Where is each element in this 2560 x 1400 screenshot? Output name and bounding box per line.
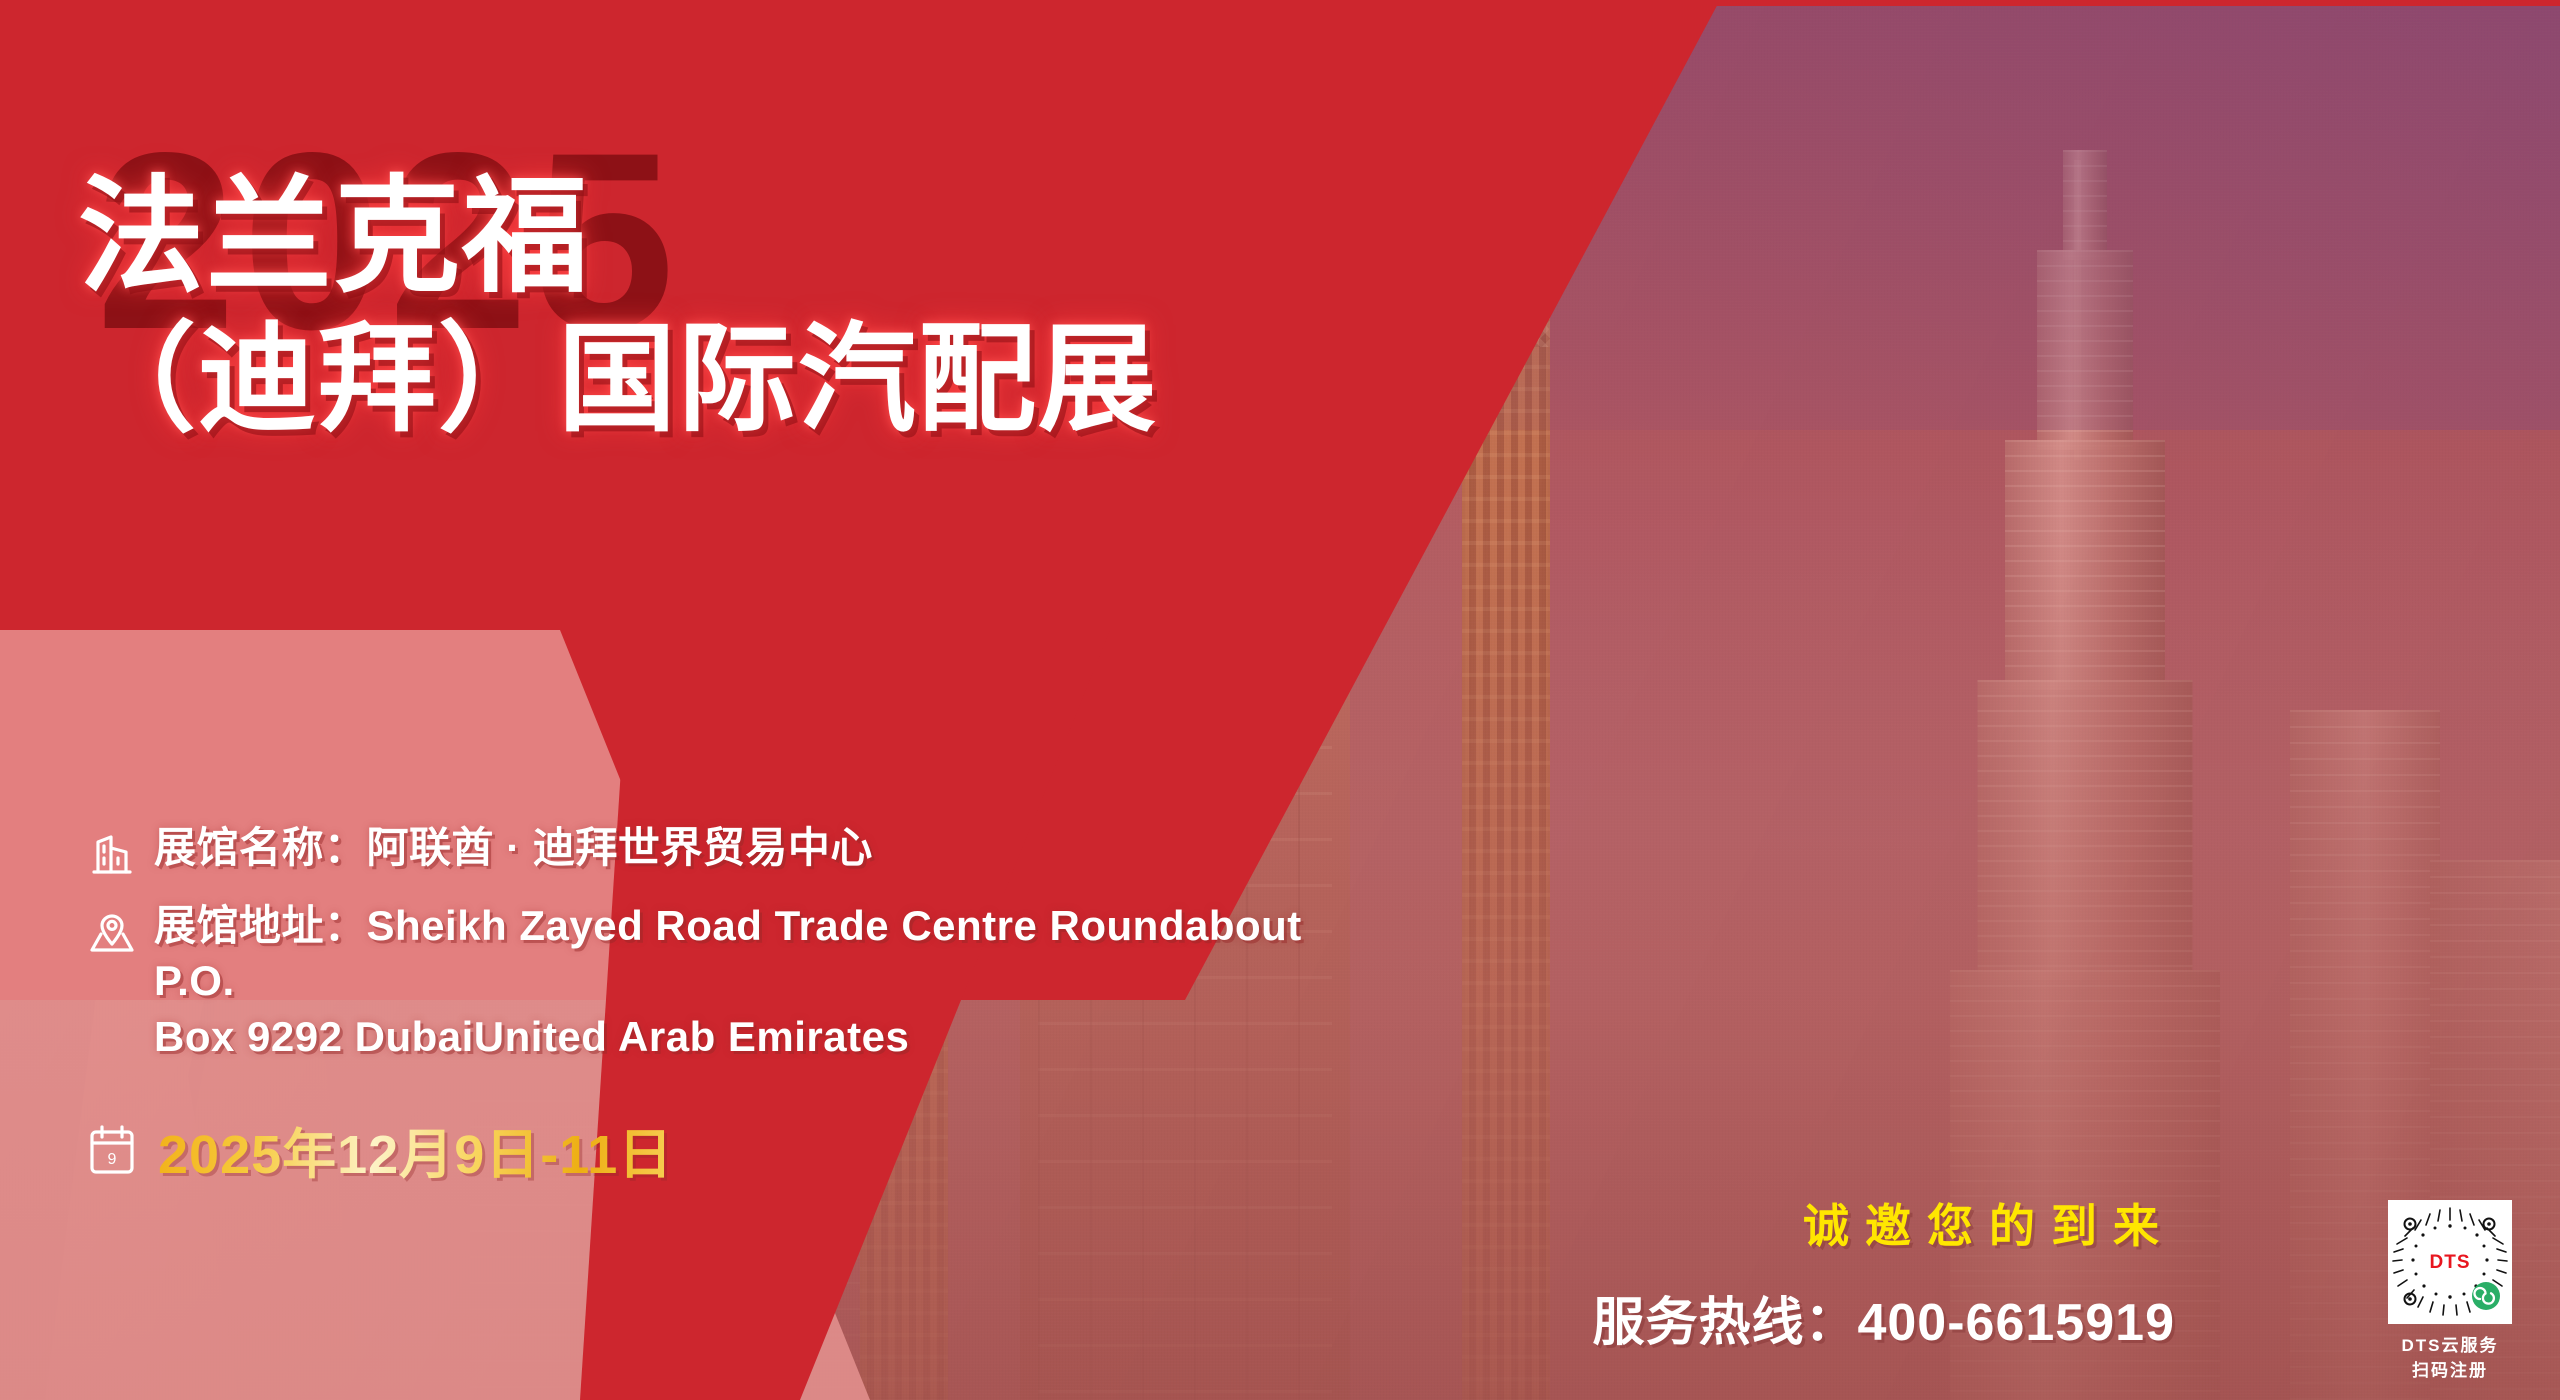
qr-caption-line-1: DTS云服务 [2370,1334,2530,1359]
event-date-row: 9 2025年12月9日-11日 [84,1110,673,1189]
svg-text:9: 9 [108,1151,117,1168]
venue-name-text: 展馆名称：阿联酋 · 迪拜世界贸易中心 [154,820,873,875]
venue-address-line-2: Box 9292 DubaiUnited Arab Emirates [154,1013,909,1060]
svg-text:DTS: DTS [2430,1252,2471,1273]
event-date-text: 2025年12月9日-11日 [158,1110,673,1189]
calendar-icon: 9 [84,1119,140,1181]
venue-name-row: 展馆名称：阿联酋 · 迪拜世界贸易中心 [84,820,1884,882]
event-title-line-1: 法兰克福 [78,170,1158,304]
event-info-list: 展馆名称：阿联酋 · 迪拜世界贸易中心 展馆地址：Sheikh Zayed Ro… [84,820,1884,1080]
venue-address-text: 展馆地址：Sheikh Zayed Road Trade Centre Roun… [154,898,1334,1064]
event-title: 法兰克福 （迪拜）国际汽配展 [78,170,1158,443]
museum-building-icon [84,826,140,882]
banner-content: 2025 法兰克福 （迪拜）国际汽配展 展馆名称：阿联酋 · 迪拜世界贸易 [0,0,2560,1400]
qr-caption-line-2: 扫码注册 [2370,1359,2530,1384]
map-pin-icon [84,904,140,960]
qr-registration-block: DTS DTS云服务 扫码注册 [2370,1200,2530,1383]
venue-address-line-1: 展馆地址：Sheikh Zayed Road Trade Centre Roun… [154,902,1302,1004]
qr-code[interactable]: DTS [2388,1200,2512,1324]
venue-address-row: 展馆地址：Sheikh Zayed Road Trade Centre Roun… [84,898,1884,1064]
qr-caption: DTS云服务 扫码注册 [2370,1334,2530,1383]
event-title-line-2: （迪拜）国际汽配展 [78,318,1158,443]
service-hotline-text: 服务热线：400-6615919 [1592,1280,2175,1355]
invitation-text: 诚邀您的到来 [1803,1190,2175,1256]
exhibition-promo-banner: 2025 法兰克福 （迪拜）国际汽配展 展馆名称：阿联酋 · 迪拜世界贸易 [0,0,2560,1400]
